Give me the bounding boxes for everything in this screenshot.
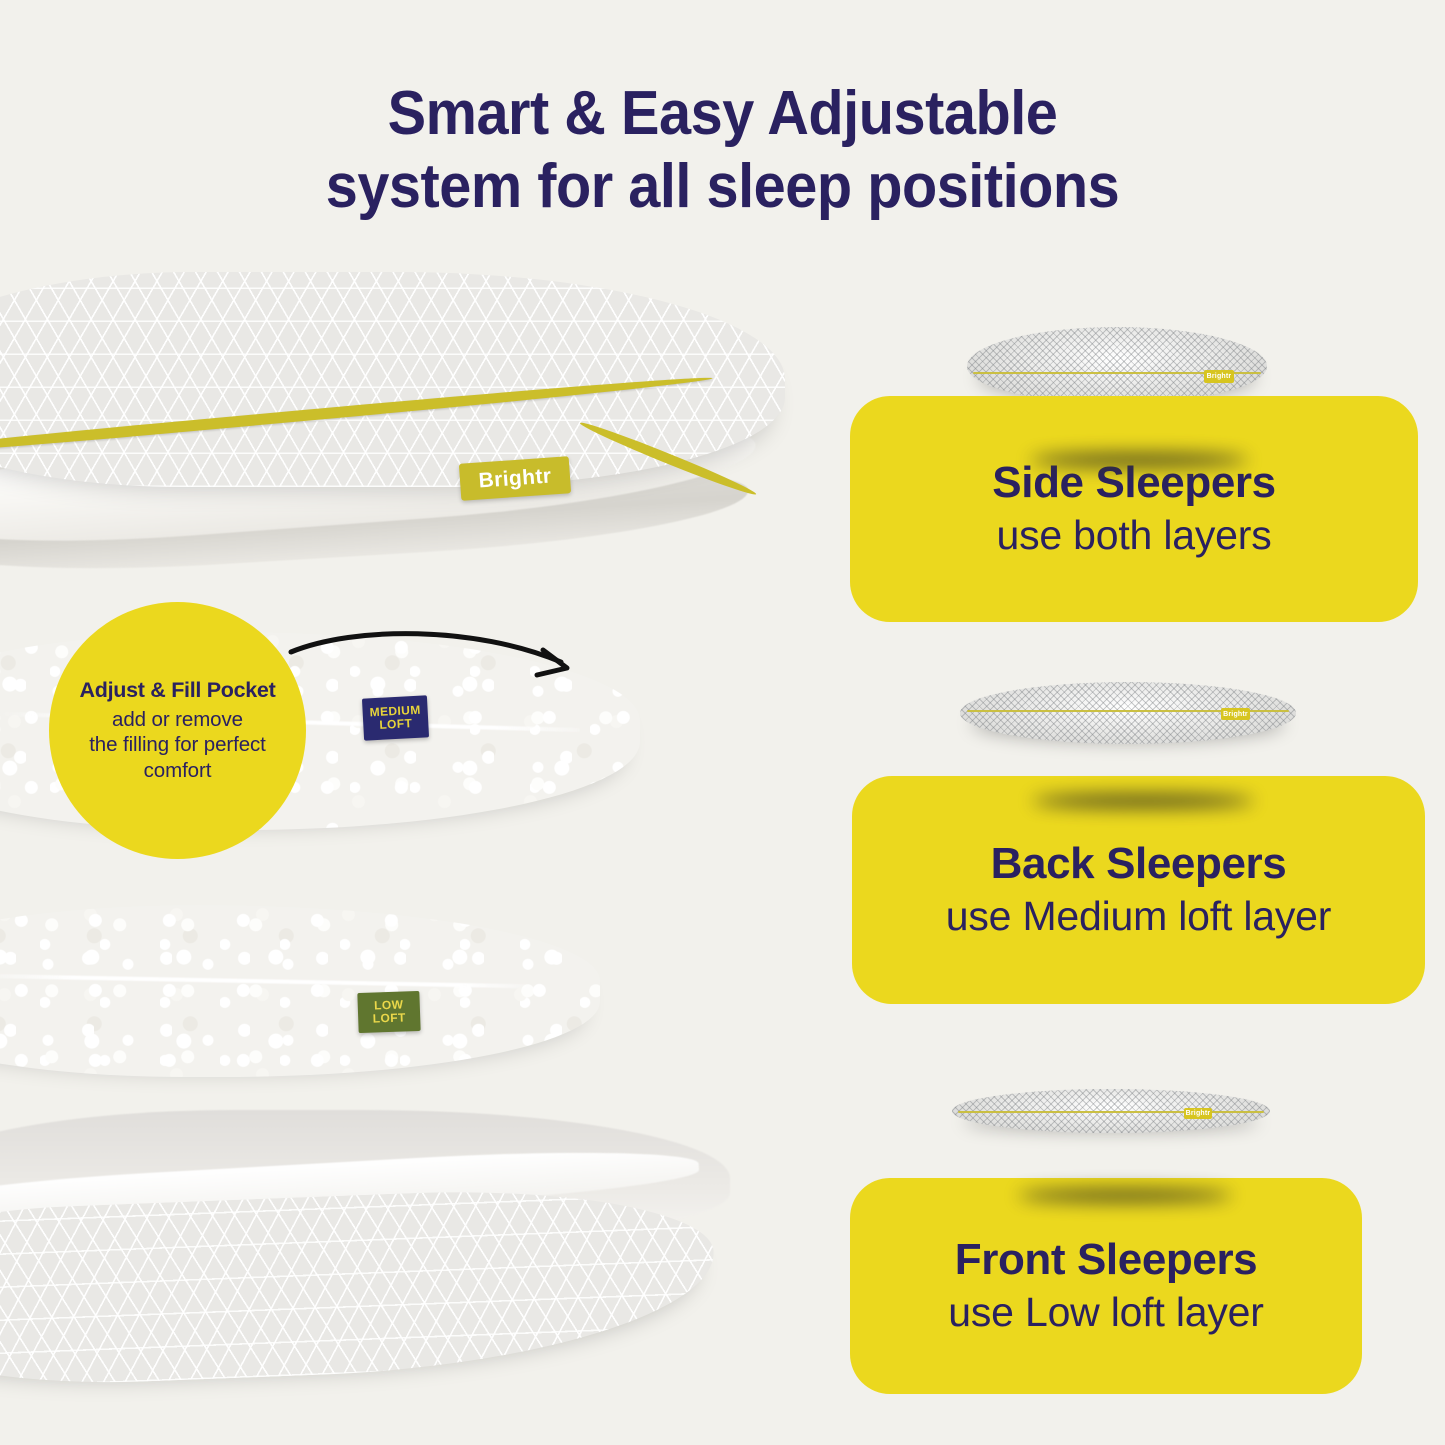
infographic-canvas: Smart & Easy Adjustable system for all s…: [0, 0, 1445, 1445]
callout-front-sleepers-title: Front Sleepers: [955, 1237, 1258, 1283]
pillow-piping-edge: [578, 418, 758, 498]
mini-pillow-brand-tag: Brightr: [1204, 370, 1234, 383]
mini-pillow-low-loft: Brightr: [952, 1089, 1270, 1133]
fill-pocket-arrow-icon: [285, 628, 605, 708]
callout-back-sleepers-title: Back Sleepers: [991, 841, 1287, 887]
low-loft-layer-illustration: [0, 905, 600, 1077]
adjust-fill-pocket-body: add or remove the filling for perfect co…: [89, 707, 266, 783]
mini-pillow-brand-tag: Brightr: [1221, 708, 1250, 720]
pillow-underside-face: [0, 1182, 718, 1392]
medium-loft-tag-line2: LOFT: [379, 717, 413, 732]
callout-side-sleepers-title: Side Sleepers: [992, 460, 1275, 506]
adjust-fill-pocket-title: Adjust & Fill Pocket: [80, 678, 276, 703]
mini-pillow-piping: [958, 1111, 1263, 1113]
callout-back-sleepers: Back Sleepers use Medium loft layer: [852, 776, 1425, 1004]
low-loft-zip-seam: [0, 974, 530, 989]
mini-pillow-medium-loft: Brightr: [960, 682, 1296, 744]
callout-side-sleepers: Side Sleepers use both layers: [850, 396, 1418, 622]
pillow-underside-plush: [0, 1110, 730, 1238]
pillow-outer-cover: [0, 272, 785, 487]
pillow-shadow-band: [0, 455, 751, 582]
adjust-fill-pocket-callout: Adjust & Fill Pocket add or remove the f…: [49, 602, 306, 859]
pillow-underside-rim: [0, 1142, 700, 1234]
callout-front-sleepers-subtitle: use Low loft layer: [948, 1290, 1263, 1335]
callout-front-sleepers: Front Sleepers use Low loft layer: [850, 1178, 1362, 1394]
medium-loft-tag: MEDIUM LOFT: [362, 695, 429, 740]
low-loft-tag-line2: LOFT: [373, 1011, 406, 1025]
page-title: Smart & Easy Adjustable system for all s…: [51, 78, 1395, 223]
low-loft-foam-fill: [0, 905, 600, 1077]
mini-pillow-both-layers: Brightr: [967, 327, 1267, 403]
callout-side-sleepers-subtitle: use both layers: [996, 513, 1271, 558]
pillow-cover-bottom-illustration: [0, 1110, 770, 1400]
mini-pillow-body: [967, 327, 1267, 403]
brightr-brand-tag: Brightr: [459, 456, 571, 501]
callout-back-sleepers-subtitle: use Medium loft layer: [946, 894, 1331, 939]
mini-pillow-brand-tag: Brightr: [1184, 1108, 1212, 1119]
pillow-inner-fleece: [0, 402, 759, 557]
pillow-piping: [0, 373, 713, 459]
pillow-cover-top-illustration: [0, 272, 830, 612]
low-loft-tag: LOW LOFT: [357, 991, 420, 1033]
